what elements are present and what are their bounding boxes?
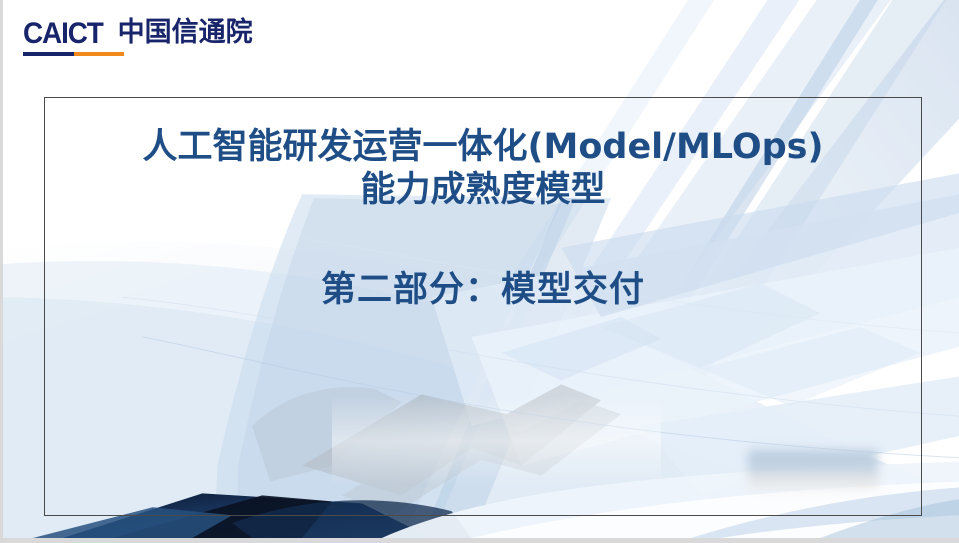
- caict-underline-blue-segment: [23, 52, 74, 56]
- caict-underline-orange-segment: [74, 52, 125, 56]
- page-title: 人工智能研发运营一体化(Model/MLOps) 能力成熟度模型: [44, 126, 922, 212]
- page-title-line-2: 能力成熟度模型: [44, 169, 922, 212]
- caict-wordmark: CAICT: [23, 19, 109, 56]
- presentation-slide: CAICT 中国信通院 人工智能研发运营一体化(Model/MLOps) 能力成…: [0, 0, 959, 543]
- caict-logo: CAICT 中国信通院: [23, 18, 253, 56]
- page-subtitle: 第二部分：模型交付: [44, 268, 922, 312]
- caict-underline: [23, 52, 124, 56]
- caict-wordmark-text: CAICT: [23, 19, 103, 49]
- page-subtitle-line-1: 第二部分：模型交付: [44, 268, 922, 312]
- page-title-line-1: 人工智能研发运营一体化(Model/MLOps): [44, 126, 922, 169]
- caict-chinese-name: 中国信通院: [118, 18, 253, 56]
